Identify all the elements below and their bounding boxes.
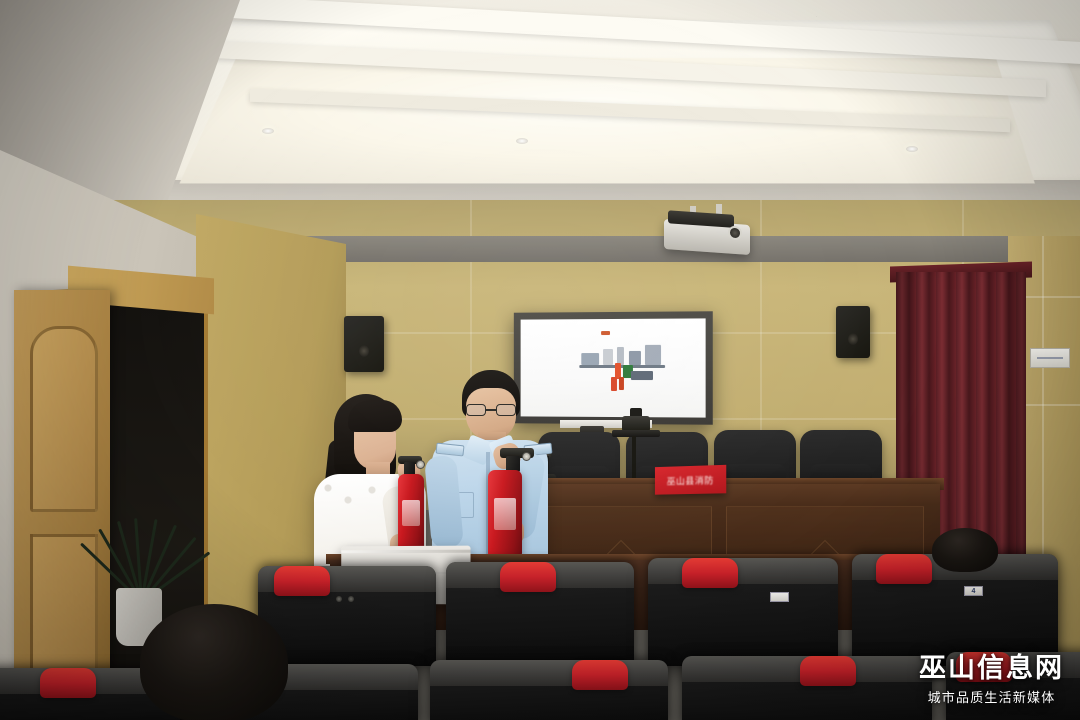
speaker-cone-icon <box>848 333 858 345</box>
attendee-head-right <box>932 528 998 572</box>
seat-studs <box>336 596 362 602</box>
camera-stand-post <box>632 436 636 480</box>
auditorium-seat[interactable] <box>446 562 634 666</box>
seat-red-accent <box>682 558 738 588</box>
extinguisher-label <box>402 500 420 526</box>
watermark-primary-text: 巫山信息网 <box>919 653 1064 684</box>
projection-screen <box>514 311 713 424</box>
seat-red-accent <box>876 554 932 584</box>
auditorium-seat[interactable] <box>430 660 668 720</box>
speaker-cone-icon <box>359 345 369 357</box>
extinguisher-label <box>494 498 516 530</box>
seat-red-accent <box>800 656 856 686</box>
desk-nameplate: 巫山县消防 <box>655 465 726 495</box>
door-leaf[interactable] <box>14 290 110 720</box>
officer-glasses-icon <box>466 404 518 416</box>
wall-speaker-left <box>344 316 384 372</box>
case-top-edge <box>341 550 470 554</box>
placard-text-blur <box>1037 357 1063 359</box>
camera-mount-plate <box>612 430 660 437</box>
watermark-secondary-text: 城市品质生活新媒体 <box>919 687 1064 706</box>
seat-headrest <box>430 660 668 686</box>
woman-fringe <box>348 400 402 432</box>
downlight-icon <box>516 138 528 144</box>
seat-red-accent <box>572 660 628 690</box>
projection-screen-surface <box>521 318 706 417</box>
seat-number-badge <box>770 592 789 602</box>
ceiling-projector <box>664 219 750 255</box>
extinguisher-gauge-icon <box>522 452 531 461</box>
wall-placard <box>1030 348 1070 368</box>
projector-lens-icon <box>728 225 742 240</box>
attendee-head-front-left <box>140 604 288 720</box>
seat-headrest <box>648 558 838 584</box>
wall-speaker-right <box>836 306 870 358</box>
seat-red-accent <box>500 562 556 592</box>
seat-red-accent <box>274 566 330 596</box>
watermark: 巫山信息网 城市品质生活新媒体 <box>919 653 1064 706</box>
extinguisher-gauge-icon <box>416 460 425 469</box>
auditorium-seat[interactable] <box>682 656 932 720</box>
palm-foliage <box>104 442 182 602</box>
slide-image <box>521 318 706 417</box>
seat-red-accent <box>40 668 96 698</box>
nameplate-text: 巫山县消防 <box>667 473 714 487</box>
seat-number-badge: 4 <box>964 586 983 596</box>
downlight-icon <box>262 128 274 134</box>
downlight-icon <box>906 146 918 152</box>
auditorium-seat[interactable] <box>648 558 838 666</box>
photo-scene: 巫山县消防 <box>0 0 1080 720</box>
